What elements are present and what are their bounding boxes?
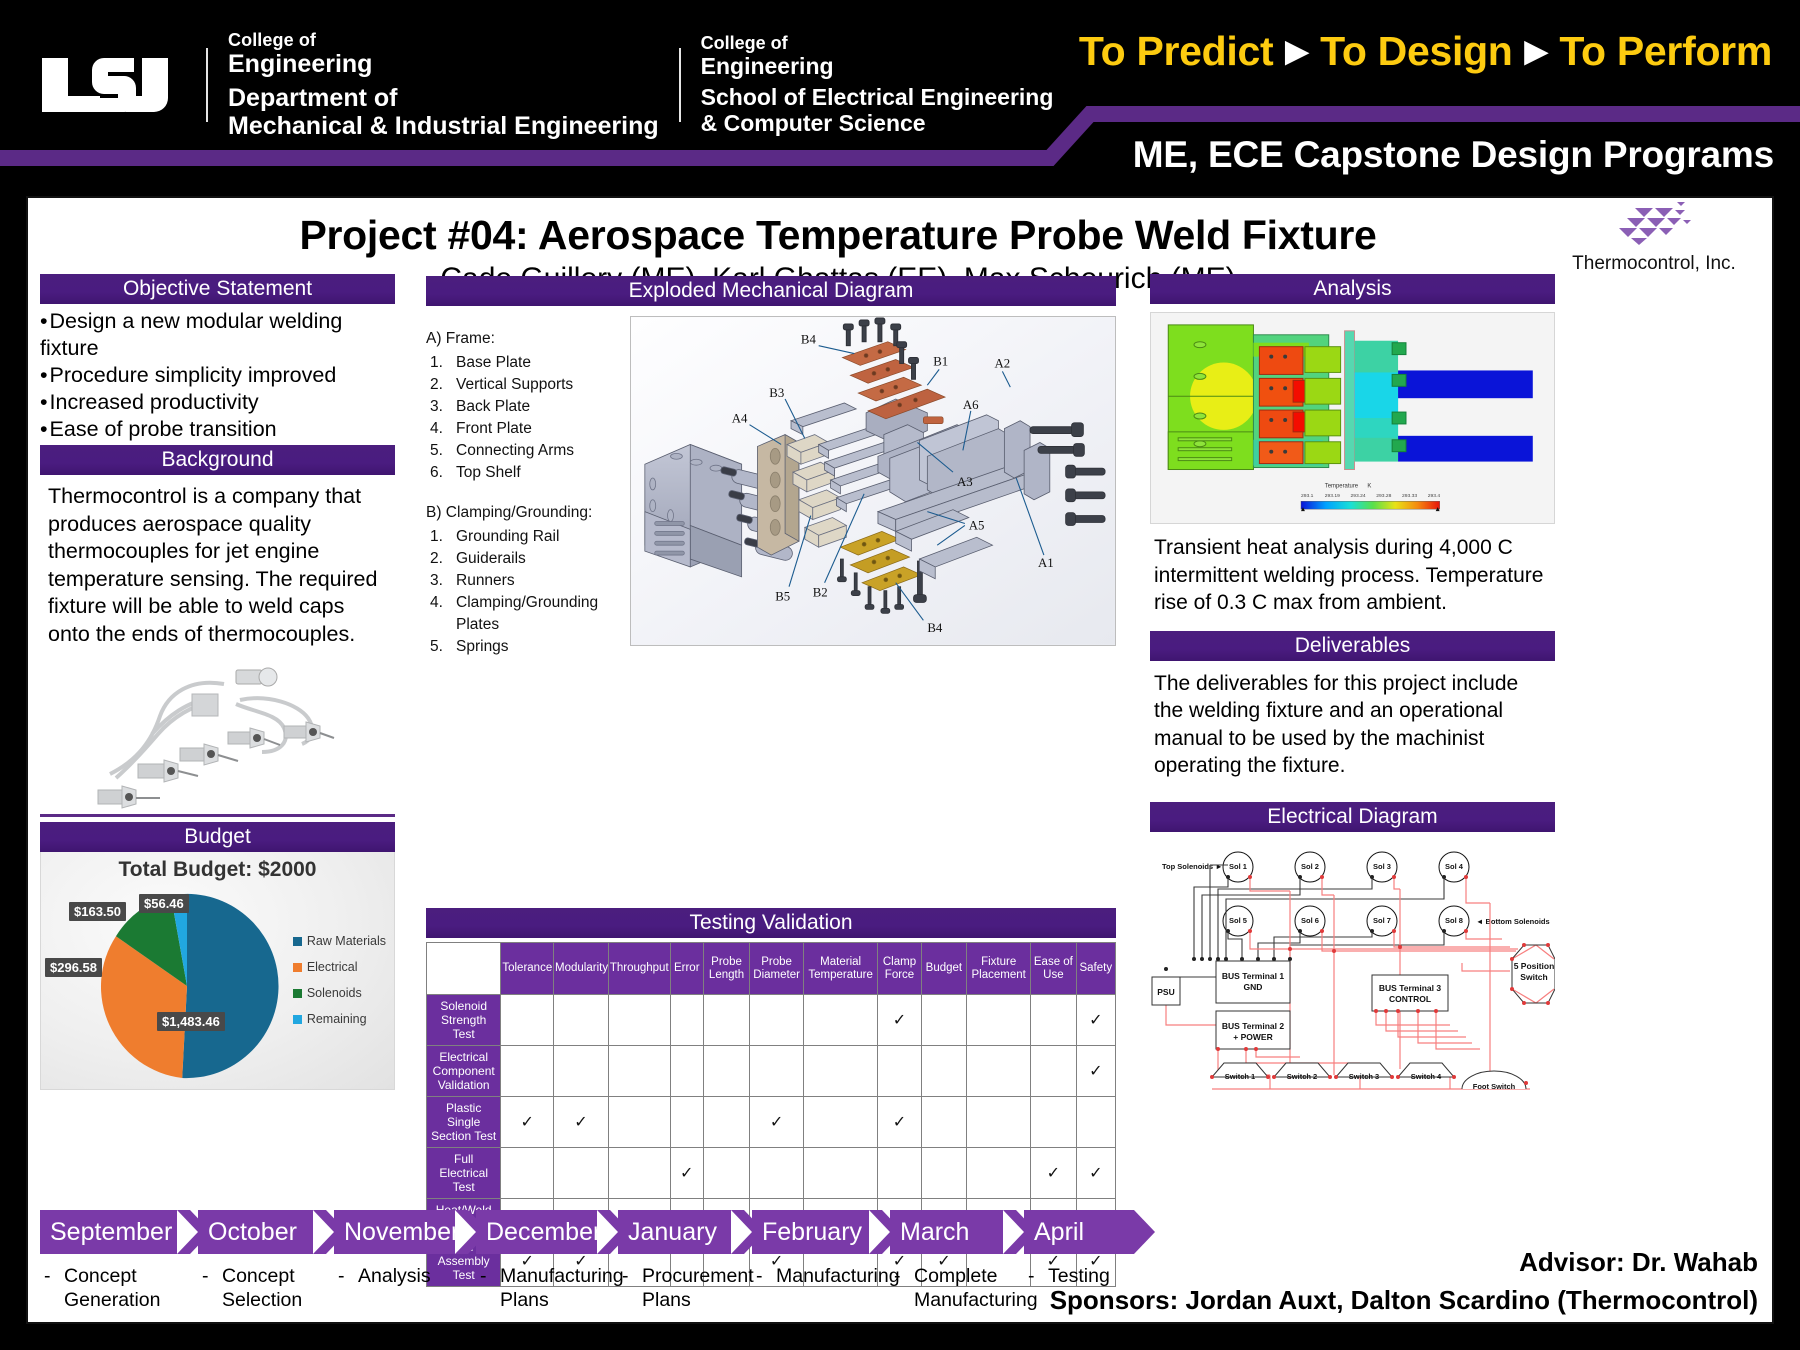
- analysis-heading: Analysis: [1150, 274, 1555, 304]
- timeline-month-label: January: [628, 1218, 717, 1247]
- advisor-text: Advisor: Dr. Wahab: [1519, 1247, 1758, 1278]
- thermocontrol-logo: Thermocontrol, Inc.: [1554, 198, 1754, 275]
- empty-cell: [703, 1097, 749, 1148]
- dept1-line2: Engineering: [228, 50, 659, 78]
- timeline-task-label: Concept Selection: [222, 1264, 342, 1312]
- timeline-month-label: February: [762, 1218, 862, 1247]
- svg-text:Sol 3: Sol 3: [1373, 862, 1391, 871]
- check-cell: ✓: [501, 1097, 554, 1148]
- svg-text:B5: B5: [775, 590, 790, 604]
- table-row: Plastic Single Section Test✓✓✓✓: [427, 1097, 1116, 1148]
- right-column: Analysis: [1150, 274, 1555, 1107]
- page-title: Project #04: Aerospace Temperature Probe…: [128, 212, 1548, 259]
- empty-cell: [750, 995, 804, 1046]
- empty-cell: [670, 1046, 703, 1097]
- col-ease-of-use: Ease of Use: [1031, 943, 1076, 995]
- objective-bullet-list: Design a new modular welding fixture Pro…: [40, 308, 395, 443]
- budget-chart-title: Total Budget: $2000: [41, 858, 394, 882]
- list-item: Design a new modular welding fixture: [40, 308, 395, 362]
- group-b-title: B) Clamping/Grounding:: [426, 502, 626, 524]
- timeline-month-label: October: [208, 1218, 297, 1247]
- list-item: Guiderails: [430, 548, 626, 570]
- check-cell: ✓: [670, 1148, 703, 1199]
- empty-cell: [878, 1046, 921, 1097]
- empty-cell: [878, 1148, 921, 1199]
- bullet-dash: -: [756, 1264, 763, 1288]
- empty-cell: [921, 1148, 966, 1199]
- pie-label-remaining: $56.46: [139, 894, 189, 913]
- list-item: Connecting Arms: [430, 440, 626, 462]
- tagline-perform: To Perform: [1559, 28, 1772, 75]
- svg-text:BUS Terminal 2: BUS Terminal 2: [1222, 1021, 1284, 1031]
- empty-cell: [554, 995, 609, 1046]
- col-clamp-force: Clamp Force: [878, 943, 921, 995]
- col-safety: Safety: [1076, 943, 1115, 995]
- middle-column: Exploded Mechanical Diagram A) Frame: Ba…: [426, 276, 1116, 658]
- empty-cell: [803, 1046, 877, 1097]
- legend-label: Electrical: [307, 960, 358, 974]
- bullet-dash: -: [480, 1264, 487, 1288]
- mechanical-body: A) Frame: Base Plate Vertical Supports B…: [426, 306, 1116, 658]
- empty-cell: [921, 1097, 966, 1148]
- check-cell: ✓: [554, 1097, 609, 1148]
- list-item: Runners: [430, 570, 626, 592]
- timeline-chevron-january[interactable]: January: [618, 1210, 744, 1254]
- dept1-line4: Mechanical & Industrial Engineering: [228, 112, 659, 140]
- timeline-task-item: -Concept Selection: [202, 1264, 342, 1312]
- dept2-line1: College of: [701, 33, 1054, 53]
- budget-pie-chart: Total Budget: $2000: [40, 852, 395, 1090]
- budget-panel: Budget Total Budget: $2000: [40, 822, 395, 1090]
- timeline-task-item: -Manufacturing: [756, 1264, 898, 1288]
- timeline-chevron-february[interactable]: February: [752, 1210, 882, 1254]
- empty-cell: [1031, 995, 1076, 1046]
- empty-cell: [803, 1148, 877, 1199]
- list-item: Procedure simplicity improved: [40, 362, 395, 389]
- dept1-line3: Department of: [228, 84, 659, 112]
- svg-text:A2: A2: [994, 356, 1010, 370]
- empty-cell: [554, 1046, 609, 1097]
- legend-label: Remaining: [307, 1012, 367, 1026]
- check-cell: ✓: [750, 1097, 804, 1148]
- svg-text:293.28: 293.28: [1376, 493, 1391, 499]
- table-row: Electrical Component Validation✓: [427, 1046, 1116, 1097]
- list-item: Springs: [430, 636, 626, 658]
- svg-text:BUS Terminal 3: BUS Terminal 3: [1379, 983, 1441, 993]
- svg-text:Switch 3: Switch 3: [1349, 1072, 1379, 1081]
- sponsors-text: Sponsors: Jordan Auxt, Dalton Scardino (…: [1050, 1285, 1758, 1316]
- empty-cell: [703, 1148, 749, 1199]
- logo-divider: [206, 48, 208, 122]
- empty-cell: [608, 1097, 670, 1148]
- svg-text:B3: B3: [769, 386, 784, 400]
- legend-item: Electrical: [293, 960, 386, 974]
- empty-cell: [501, 995, 554, 1046]
- timeline-task-item: -Manufacturing Plans: [480, 1264, 626, 1312]
- check-cell: ✓: [1076, 1148, 1115, 1199]
- col-material-temperature: Material Temperature: [803, 943, 877, 995]
- legend-swatch-icon: [293, 1015, 302, 1024]
- timeline-task-item: -Analysis: [338, 1264, 484, 1288]
- legend-label: Solenoids: [307, 986, 362, 1000]
- list-item: Vertical Supports: [430, 374, 626, 396]
- bullet-dash: -: [1028, 1264, 1035, 1288]
- project-timeline: SeptemberOctoberNovemberDecemberJanuaryF…: [40, 1210, 1138, 1316]
- row-header: Plastic Single Section Test: [427, 1097, 501, 1148]
- row-header: Solenoid Strength Test: [427, 995, 501, 1046]
- pie-label-electrical: $296.58: [45, 958, 102, 977]
- poster-sheet: Project #04: Aerospace Temperature Probe…: [26, 196, 1774, 1324]
- timeline-month-label: March: [900, 1218, 969, 1247]
- empty-cell: [967, 1097, 1031, 1148]
- empty-cell: [670, 995, 703, 1046]
- legend-label: Raw Materials: [307, 934, 386, 948]
- timeline-task-label: Concept Generation: [64, 1264, 206, 1312]
- electrical-schematic: Sol 1Sol 2 Sol 3Sol 4 Sol 5Sol 6 Sol 7So…: [1150, 839, 1555, 1107]
- background-heading: Background: [40, 445, 395, 475]
- empty-cell: [750, 1148, 804, 1199]
- fea-legend-title: Temperature: [1325, 483, 1359, 489]
- legend-item: Remaining: [293, 1012, 386, 1026]
- check-cell: ✓: [878, 1097, 921, 1148]
- col-probe-diameter: Probe Diameter: [750, 943, 804, 995]
- exploded-cad-figure: B4 B1 A2 B3 A4 A6 A3 A5 A1 B5 B2 B4: [630, 316, 1116, 646]
- col-fixture-placement: Fixture Placement: [967, 943, 1031, 995]
- svg-text:A6: A6: [963, 398, 979, 412]
- poster-root: College of Engineering Department of Mec…: [0, 0, 1800, 1350]
- check-cell: ✓: [878, 995, 921, 1046]
- triangle-right-icon-2: ▶: [1525, 37, 1548, 67]
- psu-label: PSU: [1157, 987, 1174, 997]
- timeline-task-label: Complete Manufacturing: [914, 1264, 1032, 1312]
- svg-text:Sol 8: Sol 8: [1445, 916, 1463, 925]
- empty-cell: [554, 1148, 609, 1199]
- svg-text:Switch 2: Switch 2: [1287, 1072, 1317, 1081]
- svg-text:Sol 5: Sol 5: [1229, 916, 1247, 925]
- empty-cell: [967, 1046, 1031, 1097]
- timeline-chevron-september[interactable]: September: [40, 1210, 190, 1254]
- list-item: Front Plate: [430, 418, 626, 440]
- svg-text:Sol 4: Sol 4: [1445, 862, 1464, 871]
- lsu-branding: College of Engineering Department of Mec…: [38, 30, 1053, 140]
- table-row: Solenoid Strength Test✓✓: [427, 995, 1116, 1046]
- svg-text:Switch: Switch: [1520, 972, 1547, 982]
- svg-text:Switch 4: Switch 4: [1411, 1072, 1442, 1081]
- pie-label-solenoids: $163.50: [69, 902, 126, 921]
- pie-label-raw-materials: $1,483.46: [157, 1012, 225, 1031]
- empty-cell: [803, 1097, 877, 1148]
- mechanical-heading: Exploded Mechanical Diagram: [426, 276, 1116, 306]
- empty-cell: [608, 1046, 670, 1097]
- svg-text:293.19: 293.19: [1325, 493, 1340, 499]
- deliverables-heading: Deliverables: [1150, 631, 1555, 661]
- check-cell: ✓: [1031, 1148, 1076, 1199]
- empty-cell: [501, 1046, 554, 1097]
- bullet-dash: -: [44, 1264, 51, 1288]
- list-item: Clamping/Grounding Plates: [430, 592, 626, 636]
- empty-cell: [1031, 1097, 1076, 1148]
- timeline-task-label: Manufacturing: [776, 1264, 898, 1288]
- top-solenoids-label: Top Solenoids ►: [1162, 862, 1223, 871]
- left-column: Objective Statement Design a new modular…: [40, 274, 395, 1090]
- svg-text:A4: A4: [732, 412, 748, 426]
- pie-legend: Raw Materials Electrical Solenoids Remai…: [293, 934, 386, 1038]
- list-item: Ease of probe transition: [40, 416, 395, 443]
- col-budget: Budget: [921, 943, 966, 995]
- empty-cell: [703, 1046, 749, 1097]
- svg-text:293.33: 293.33: [1402, 493, 1417, 499]
- svg-text:293.24: 293.24: [1351, 493, 1366, 499]
- svg-text:A5: A5: [969, 518, 985, 532]
- mechanical-parts-list: A) Frame: Base Plate Vertical Supports B…: [426, 306, 626, 658]
- svg-text:B4: B4: [801, 333, 817, 347]
- group-a-title: A) Frame:: [426, 328, 626, 350]
- thermocouple-harness-photo: [40, 656, 395, 816]
- timeline-month-label: December: [486, 1218, 601, 1247]
- dept2-line2: Engineering: [701, 54, 1054, 80]
- timeline-task-label: Analysis: [358, 1264, 484, 1288]
- timeline-task-item: -Complete Manufacturing: [894, 1264, 1032, 1312]
- group-b-list: Grounding Rail Guiderails Runners Clampi…: [430, 526, 626, 658]
- analysis-caption: Transient heat analysis during 4,000 C i…: [1150, 524, 1555, 617]
- empty-cell: [670, 1097, 703, 1148]
- row-header: Full Electrical Test: [427, 1148, 501, 1199]
- svg-text:BUS Terminal 1: BUS Terminal 1: [1222, 971, 1284, 981]
- svg-text:Foot Switch: Foot Switch: [1473, 1082, 1516, 1091]
- svg-text:Sol 6: Sol 6: [1301, 916, 1319, 925]
- list-item: Base Plate: [430, 352, 626, 374]
- legend-swatch-icon: [293, 963, 302, 972]
- photo-underline: [40, 814, 395, 817]
- col-probe-length: Probe Length: [703, 943, 749, 995]
- svg-text:Sol 7: Sol 7: [1373, 916, 1391, 925]
- svg-text:A3: A3: [957, 475, 973, 489]
- timeline-task-item: -Concept Generation: [44, 1264, 206, 1312]
- program-banner-title: ME, ECE Capstone Design Programs: [1133, 134, 1774, 176]
- electrical-heading: Electrical Diagram: [1150, 802, 1555, 832]
- check-cell: ✓: [1076, 1046, 1115, 1097]
- empty-cell: [967, 995, 1031, 1046]
- table-row: Full Electrical Test✓✓✓: [427, 1148, 1116, 1199]
- svg-text:B4: B4: [927, 621, 943, 635]
- empty-cell: [921, 1046, 966, 1097]
- timeline-month-label: November: [344, 1218, 459, 1247]
- list-item: Top Shelf: [430, 462, 626, 484]
- background-text: Thermocontrol is a company that produces…: [40, 475, 395, 648]
- dept1-line1: College of: [228, 30, 659, 50]
- col-error: Error: [670, 943, 703, 995]
- tagline: To Predict ▶ To Design ▶ To Perform: [1079, 28, 1772, 75]
- timeline-chevron-march[interactable]: March: [890, 1210, 1016, 1254]
- col-modularity: Modularity: [554, 943, 609, 995]
- svg-text:5 Position: 5 Position: [1514, 961, 1555, 971]
- timeline-chevron-april[interactable]: April: [1024, 1210, 1134, 1254]
- objective-heading: Objective Statement: [40, 274, 395, 304]
- legend-item: Solenoids: [293, 986, 386, 1000]
- timeline-month-label: September: [50, 1218, 172, 1247]
- lsu-logo-icon: [38, 54, 186, 116]
- dept-divider: [679, 48, 681, 122]
- empty-cell: [501, 1148, 554, 1199]
- testing-heading: Testing Validation: [426, 908, 1116, 938]
- empty-cell: [1076, 1097, 1115, 1148]
- list-item: Increased productivity: [40, 389, 395, 416]
- svg-text:293.1: 293.1: [1301, 493, 1314, 499]
- timeline-task-label: Procurement Plans: [642, 1264, 760, 1312]
- budget-heading: Budget: [40, 822, 395, 852]
- bullet-dash: -: [338, 1264, 345, 1288]
- thermal-fea-contour-plot: Temperature K 293.1293.19 293.24293.28 2…: [1150, 312, 1555, 524]
- svg-text:Sol 2: Sol 2: [1301, 862, 1319, 871]
- svg-text:B1: B1: [933, 354, 948, 368]
- thermocontrol-triangles-icon: [1609, 198, 1699, 246]
- svg-text:Sol 1: Sol 1: [1229, 862, 1247, 871]
- col-tolerance: Tolerance: [501, 943, 554, 995]
- thermocontrol-logo-text: Thermocontrol, Inc.: [1554, 253, 1754, 275]
- col-throughput: Throughput: [608, 943, 670, 995]
- timeline-chevron-december[interactable]: December: [476, 1210, 610, 1254]
- empty-cell: [750, 1046, 804, 1097]
- bullet-dash: -: [894, 1264, 901, 1288]
- timeline-task-row: -Concept Generation-Concept Selection-An…: [40, 1264, 1138, 1320]
- bottom-solenoids-label: ◄ Bottom Solenoids: [1476, 917, 1550, 926]
- dept2-line3: School of Electrical Engineering: [701, 85, 1054, 111]
- empty-cell: [608, 995, 670, 1046]
- timeline-month-label: April: [1034, 1218, 1084, 1247]
- row-header: Electrical Component Validation: [427, 1046, 501, 1097]
- check-cell: ✓: [1076, 995, 1115, 1046]
- table-header-row: Tolerance Modularity Throughput Error Pr…: [427, 943, 1116, 995]
- timeline-chevron-row: SeptemberOctoberNovemberDecemberJanuaryF…: [40, 1210, 1138, 1254]
- empty-cell: [608, 1148, 670, 1199]
- group-a-list: Base Plate Vertical Supports Back Plate …: [430, 352, 626, 484]
- timeline-task-item: -Procurement Plans: [622, 1264, 760, 1312]
- tagline-design: To Design: [1320, 28, 1512, 75]
- legend-swatch-icon: [293, 989, 302, 998]
- empty-cell: [921, 995, 966, 1046]
- timeline-chevron-november[interactable]: November: [334, 1210, 468, 1254]
- svg-text:K: K: [1367, 483, 1371, 489]
- dept-electrical: College of Engineering School of Electri…: [701, 33, 1054, 136]
- svg-text:GND: GND: [1244, 982, 1263, 992]
- bullet-dash: -: [622, 1264, 629, 1288]
- deliverables-text: The deliverables for this project includ…: [1150, 661, 1555, 780]
- list-item: Back Plate: [430, 396, 626, 418]
- header-banner: College of Engineering Department of Mec…: [0, 0, 1800, 196]
- legend-swatch-icon: [293, 937, 302, 946]
- svg-text:Switch 1: Switch 1: [1225, 1072, 1255, 1081]
- svg-text:293.4: 293.4: [1428, 493, 1441, 499]
- svg-text:+ POWER: + POWER: [1233, 1032, 1272, 1042]
- svg-text:B2: B2: [813, 586, 828, 600]
- triangle-right-icon: ▶: [1285, 37, 1308, 67]
- dept2-line4: & Computer Science: [701, 111, 1054, 137]
- svg-text:A1: A1: [1038, 556, 1054, 570]
- legend-item: Raw Materials: [293, 934, 386, 948]
- empty-cell: [803, 995, 877, 1046]
- table-corner-cell: [427, 943, 501, 995]
- empty-cell: [703, 995, 749, 1046]
- timeline-task-label: Manufacturing Plans: [500, 1264, 626, 1312]
- empty-cell: [967, 1148, 1031, 1199]
- timeline-chevron-october[interactable]: October: [198, 1210, 326, 1254]
- bullet-dash: -: [202, 1264, 209, 1288]
- svg-text:CONTROL: CONTROL: [1389, 994, 1431, 1004]
- dept-mechanical: College of Engineering Department of Mec…: [228, 30, 659, 140]
- tagline-predict: To Predict: [1079, 28, 1273, 75]
- list-item: Grounding Rail: [430, 526, 626, 548]
- empty-cell: [1031, 1046, 1076, 1097]
